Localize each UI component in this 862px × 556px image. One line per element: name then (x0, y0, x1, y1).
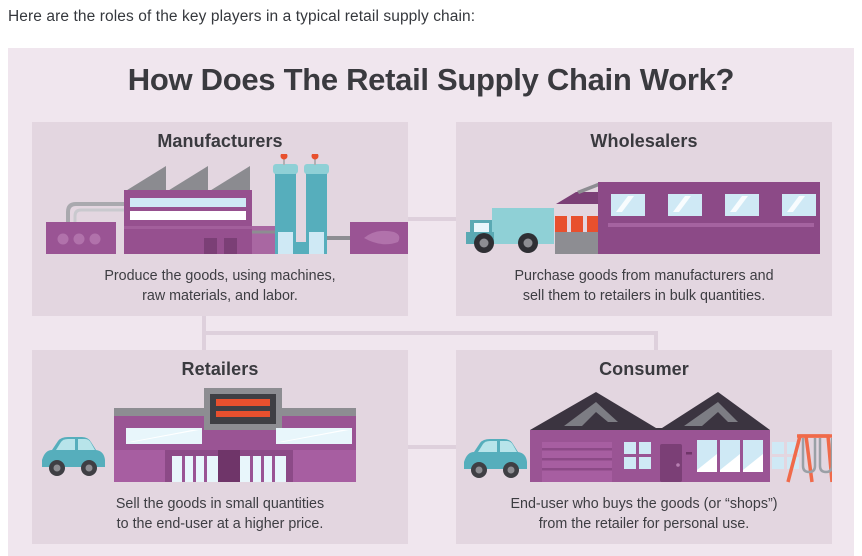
caption-line: sell them to retailers in bulk quantitie… (464, 286, 824, 306)
panel-title-retailers: Retailers (32, 359, 408, 380)
panel-retailers: Retailers (32, 350, 408, 544)
page-title: How Does The Retail Supply Chain Work? (8, 62, 854, 98)
infographic-container: How Does The Retail Supply Chain Work? M… (8, 48, 854, 556)
caption-line: raw materials, and labor. (40, 286, 400, 306)
factory-illustration (32, 154, 408, 256)
caption-line: Purchase goods from manufacturers and (464, 266, 824, 286)
panel-consumer: Consumer (456, 350, 832, 544)
panel-wholesalers: Wholesalers (456, 122, 832, 316)
intro-paragraph: Here are the roles of the key players in… (8, 6, 475, 28)
panel-caption-consumer: End-user who buys the goods (or “shops”)… (464, 494, 824, 534)
house-illustration (456, 382, 832, 484)
caption-line: End-user who buys the goods (or “shops”) (464, 494, 824, 514)
caption-line: Produce the goods, using machines, (40, 266, 400, 286)
caption-line: Sell the goods in small quantities (40, 494, 400, 514)
panel-caption-manufacturers: Produce the goods, using machines, raw m… (40, 266, 400, 306)
panel-caption-wholesalers: Purchase goods from manufacturers and se… (464, 266, 824, 306)
caption-line: to the end-user at a higher price. (40, 514, 400, 534)
panel-manufacturers: Manufacturers (32, 122, 408, 316)
panel-title-wholesalers: Wholesalers (456, 131, 832, 152)
panel-title-manufacturers: Manufacturers (32, 131, 408, 152)
caption-line: from the retailer for personal use. (464, 514, 824, 534)
panel-caption-retailers: Sell the goods in small quantities to th… (40, 494, 400, 534)
warehouse-truck-illustration (456, 154, 832, 256)
panel-title-consumer: Consumer (456, 359, 832, 380)
retail-store-illustration (32, 382, 408, 484)
